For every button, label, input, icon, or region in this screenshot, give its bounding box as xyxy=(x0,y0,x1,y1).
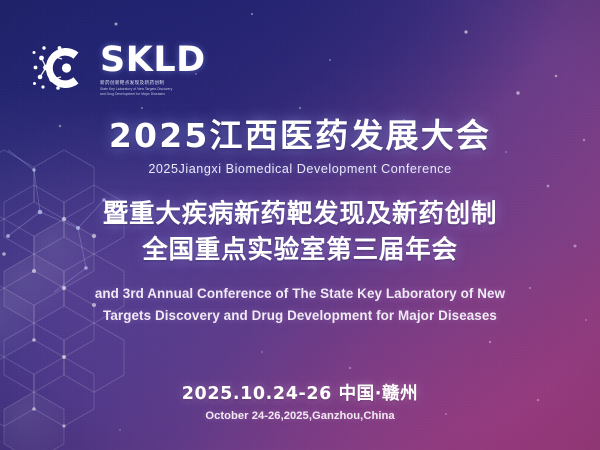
skld-molecular-c-logo-icon xyxy=(30,36,94,100)
skld-wordmark-text: SKLD xyxy=(100,44,206,78)
date-venue-en: October 24-26,2025,Ganzhou,China xyxy=(0,410,600,422)
skld-subtitle-cn: 新药创新靶点发现及新药创制 xyxy=(100,80,206,86)
skld-wordmark: SKLD 新药创新靶点发现及新药创制 State Key Laboratory … xyxy=(100,40,206,96)
conference-poster: SKLD 新药创新靶点发现及新药创制 State Key Laboratory … xyxy=(0,0,600,450)
headline-block: 2025江西医药发展大会 2025Jiangxi Biomedical Deve… xyxy=(0,118,600,327)
subtitle-cn-line-2: 全国重点实验室第三届年会 xyxy=(0,232,600,268)
subtitle-en-group: and 3rd Annual Conference of The State K… xyxy=(0,283,600,326)
subtitle-cn-group: 暨重大疾病新药靶发现及新药创制 全国重点实验室第三届年会 xyxy=(0,196,600,268)
subtitle-en-line-1: and 3rd Annual Conference of The State K… xyxy=(0,283,600,305)
main-title-en: 2025Jiangxi Biomedical Development Confe… xyxy=(0,162,600,176)
date-venue-cn: 2025.10.24-26 中国·赣州 xyxy=(0,380,600,405)
subtitle-en-line-2: Targets Discovery and Drug Development f… xyxy=(0,305,600,327)
skld-subtitle-en-line1: State Key Laboratory of New Targets Disc… xyxy=(100,87,206,91)
subtitle-cn-line-1: 暨重大疾病新药靶发现及新药创制 xyxy=(0,196,600,232)
skld-logo: SKLD 新药创新靶点发现及新药创制 State Key Laboratory … xyxy=(30,36,206,100)
main-title-cn: 2025江西医药发展大会 xyxy=(0,118,600,155)
date-venue-block: 2025.10.24-26 中国·赣州 October 24-26,2025,G… xyxy=(0,380,600,422)
skld-subtitle-en-line2: and Drug Development for Major Diseases xyxy=(100,92,206,96)
